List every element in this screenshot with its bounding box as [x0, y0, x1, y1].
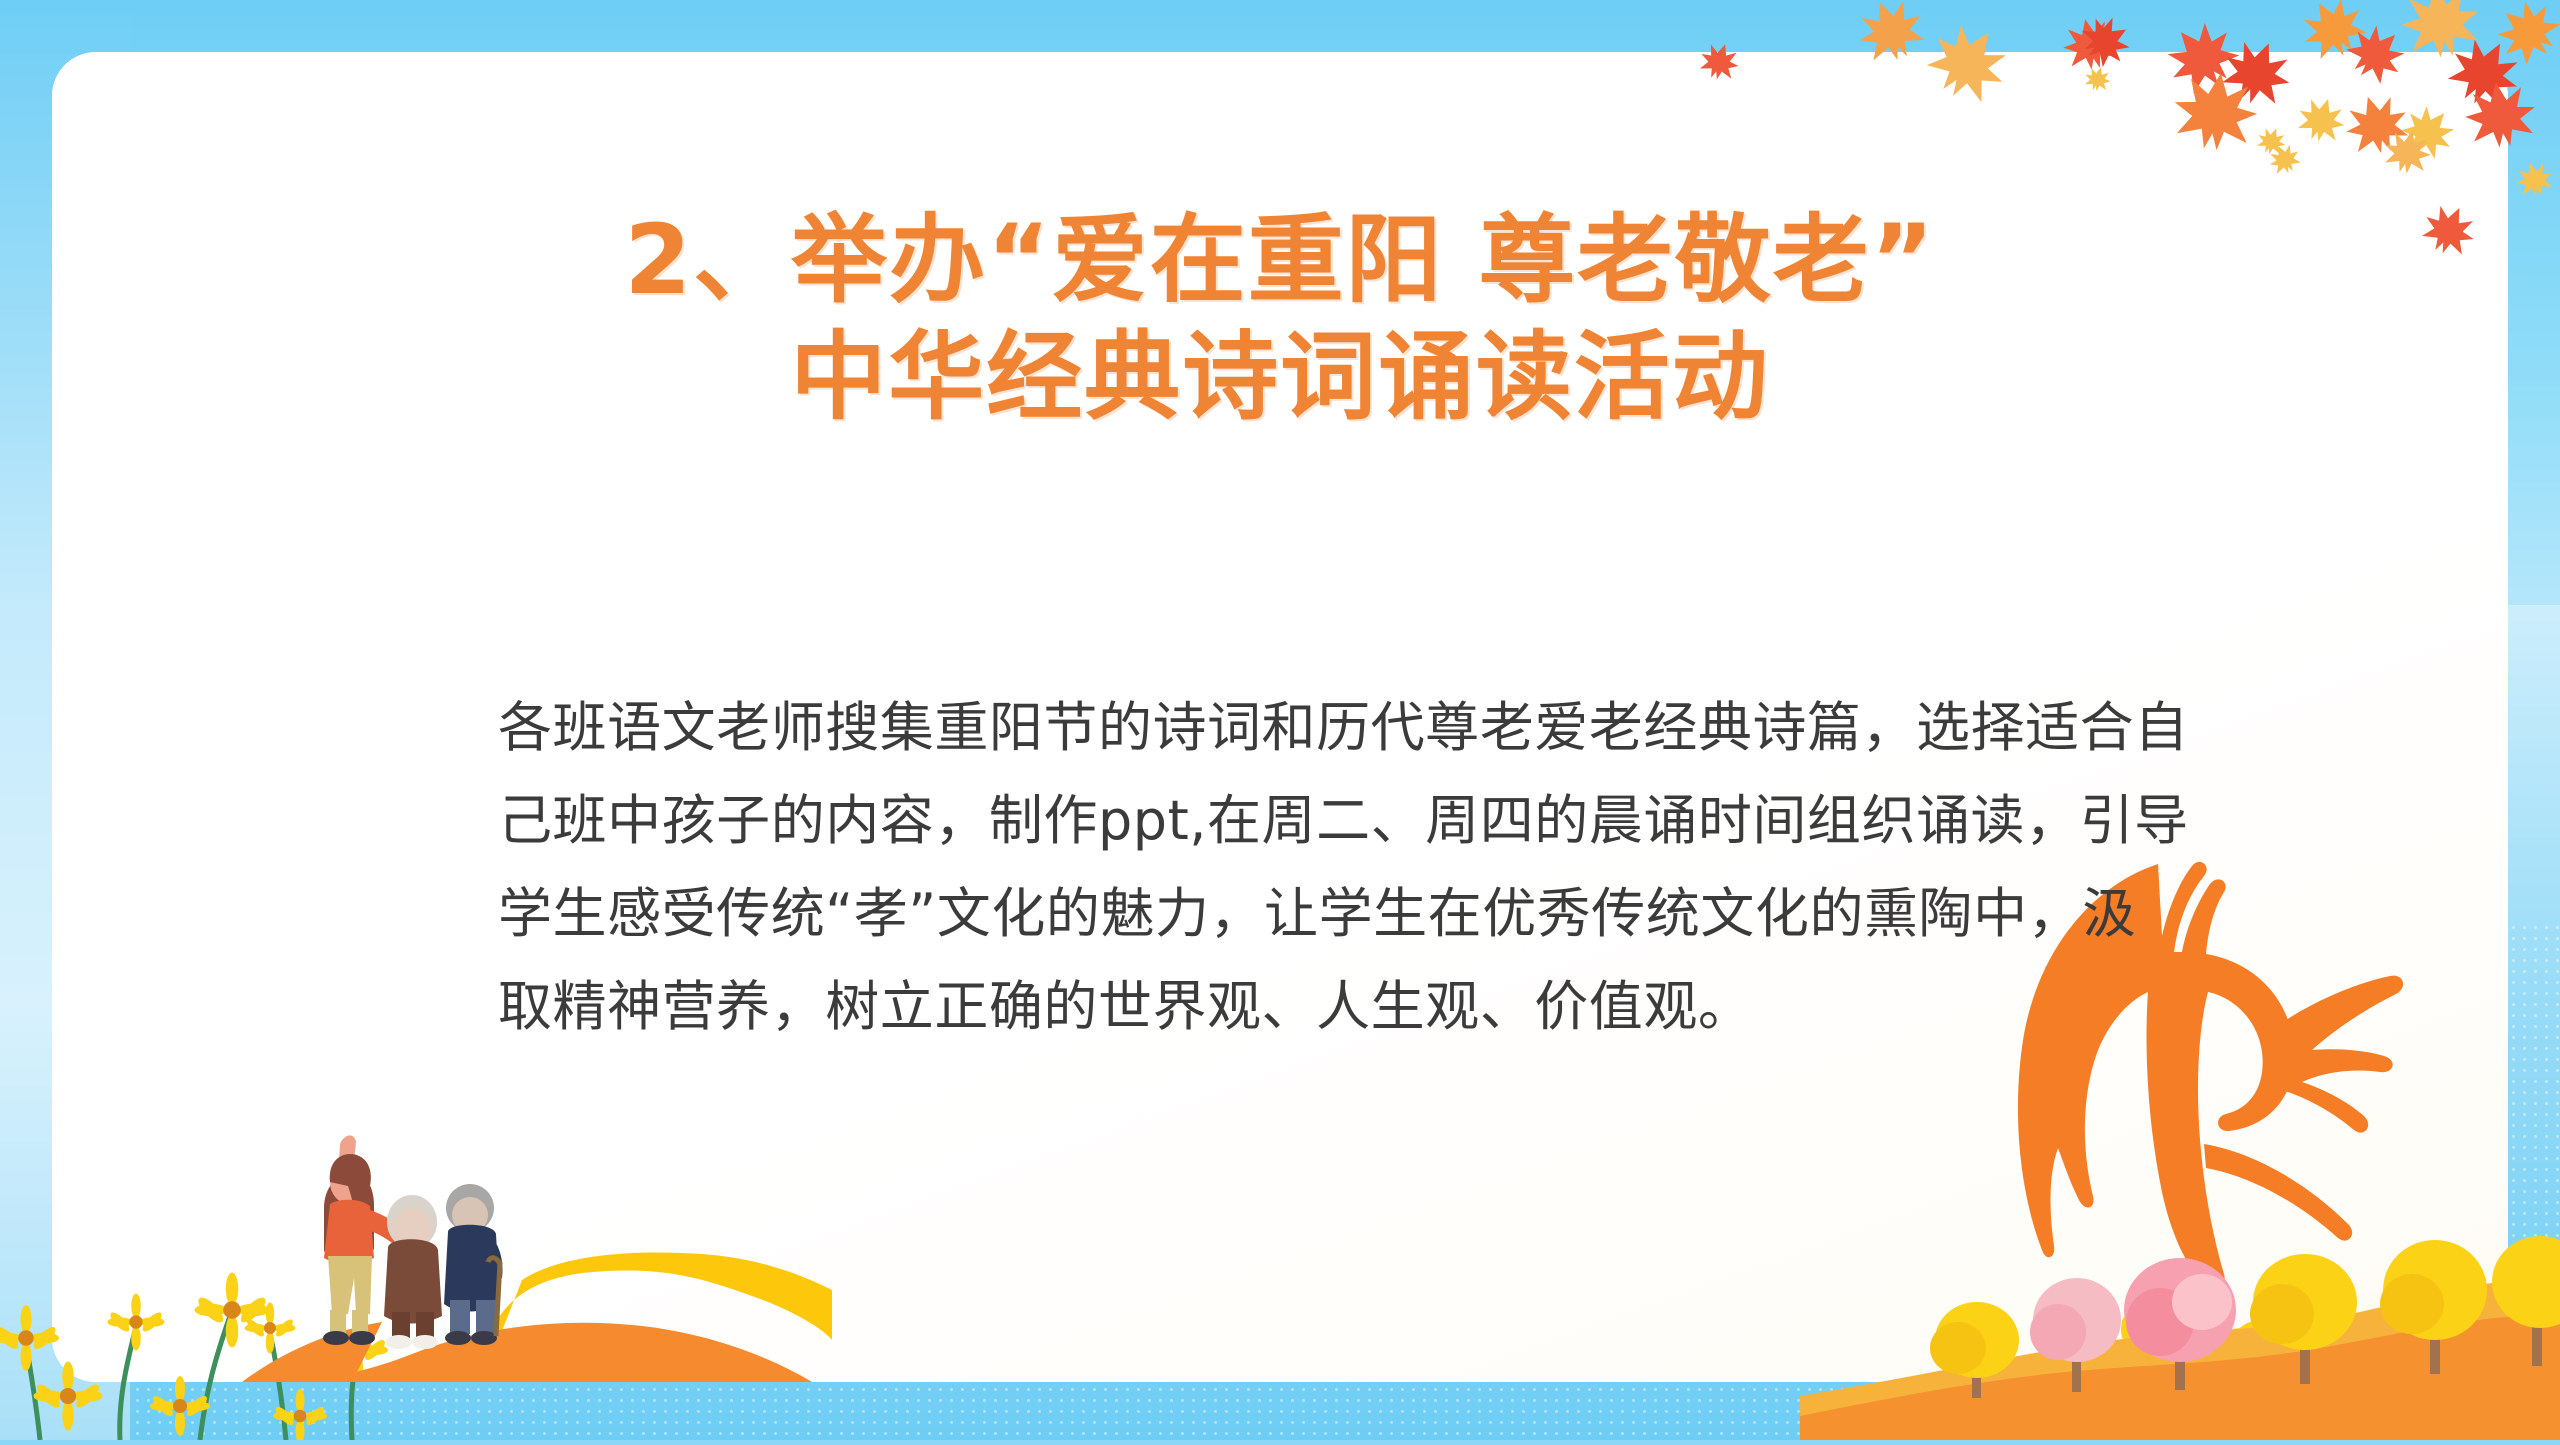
page-title: 2、举办“爱在重阳 尊老敬老” 中华经典诗词诵读活动	[52, 202, 2508, 436]
slide-content-card: 2、举办“爱在重阳 尊老敬老” 中华经典诗词诵读活动 各班语文老师搜集重阳节的诗…	[52, 52, 2508, 1382]
body-line-4: 取精神营养，树立正确的世界观、人生观、价值观。	[498, 961, 2238, 1054]
title-line-2: 中华经典诗词诵读活动	[52, 319, 2508, 436]
elderly-man-figure	[444, 1184, 503, 1345]
body-line-1: 各班语文老师搜集重阳节的诗词和历代尊老爱老经典诗篇，选择适合自	[498, 682, 2238, 775]
trees-illustration	[1800, 1190, 2560, 1440]
elderly-woman-figure	[384, 1195, 442, 1349]
people-illustration	[52, 1082, 832, 1382]
body-paragraph: 各班语文老师搜集重阳节的诗词和历代尊老爱老经典诗篇，选择适合自 己班中孩子的内容…	[498, 682, 2238, 1054]
body-line-2: 己班中孩子的内容，制作ppt,在周二、周四的晨诵时间组织诵读，引导	[498, 775, 2238, 868]
title-line-1: 2、举办“爱在重阳 尊老敬老”	[52, 202, 2508, 319]
body-line-3: 学生感受传统“孝”文化的魅力，让学生在优秀传统文化的熏陶中，汲	[498, 868, 2238, 961]
